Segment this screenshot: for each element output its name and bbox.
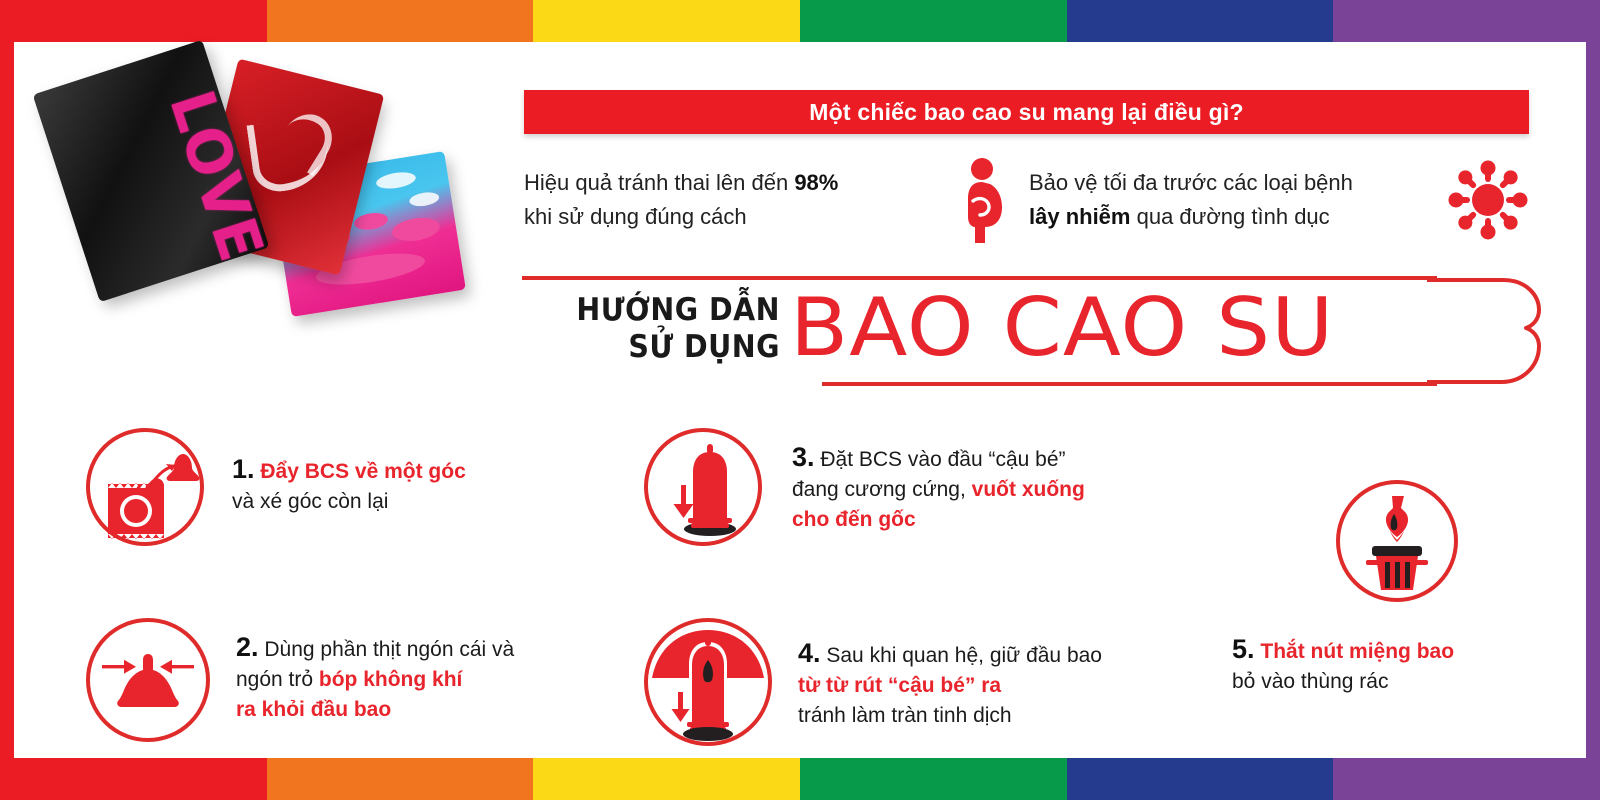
title-subtitle-line2: SỬ DỤNG [550,329,780,366]
headline-banner-text: Một chiếc bao cao su mang lại điều gì? [809,99,1243,126]
rainbow-band-purple [1333,758,1600,800]
step-3-line2-highlight: vuốt xuống [972,478,1085,501]
step-3-line3: cho đến gốc [792,508,916,531]
side-border-left [0,0,14,800]
step-5: 5. Thắt nút miệng bao bỏ vào thùng rác [1232,480,1562,697]
step-4-text: 4. Sau khi quan hệ, giữ đầu bao từ từ rú… [798,618,1102,731]
rainbow-band-blue [1067,0,1334,42]
step-1-text: 1. Đẩy BCS về một góc và xé góc còn lại [232,428,466,517]
step-2: 2. Dùng phần thịt ngón cái và ngón trỏ b… [86,618,616,742]
rainbow-band-green [800,0,1067,42]
rainbow-band-red [0,758,267,800]
step-2-line1: Dùng phần thịt ngón cái và [264,638,514,661]
step-4-number: 4. [798,638,821,668]
benefit-text-sti: Bảo vệ tối đa trước các loại bệnh lây nh… [1029,166,1442,234]
benefit-text-a: Bảo vệ tối đa trước các loại bệnh [1029,170,1353,195]
benefit-text-a: Hiệu quả tránh thai lên đến [524,170,794,195]
step-3-line2-a: đang cương cứng, [792,478,972,501]
step-5-line2: bỏ vào thùng rác [1232,670,1388,693]
step-4-line3: tránh làm tràn tinh dịch [798,704,1012,727]
headline-banner: Một chiếc bao cao su mang lại điều gì? [524,90,1529,134]
condom-packets-photo: LOVE LOVE [54,52,474,342]
benefits-row: Hiệu quả tránh thai lên đến 98% khi sử d… [524,152,1534,247]
rainbow-band-red [0,0,267,42]
poster-content: LOVE LOVE Một chiếc bao cao su mang lại … [14,42,1586,758]
step-4-line1: Sau khi quan hệ, giữ đầu bao [826,644,1102,667]
step-5-line1: Thắt nút miệng bao [1260,640,1454,663]
condom-wrapper-tear-icon [86,428,204,546]
step-2-line2-highlight: bóp không khí [319,668,462,691]
benefit-text-pregnancy: Hiệu quả tránh thai lên đến 98% khi sử d… [524,166,937,234]
main-title-block: HƯỚNG DẪN SỬ DỤNG BAO CAO SU [522,270,1532,400]
rainbow-band-orange [267,758,534,800]
rainbow-band-purple [1333,0,1600,42]
step-5-number: 5. [1232,634,1255,664]
condom-outline-icon [1427,274,1547,388]
step-3: 3. Đặt BCS vào đầu “cậu bé” đang cương c… [644,428,1204,546]
benefit-text-b: khi sử dụng đúng cách [524,204,747,229]
step-3-text: 3. Đặt BCS vào đầu “cậu bé” đang cương c… [792,428,1085,535]
step-2-line2-a: ngón trỏ [236,668,319,691]
rolled-condom-down-arrow-icon [644,428,762,546]
virus-icon [1442,160,1534,240]
title-subtitle-line1: HƯỚNG DẪN [550,292,780,329]
rainbow-stripe-bottom [0,758,1600,800]
infographic-poster: LOVE LOVE Một chiếc bao cao su mang lại … [0,0,1600,800]
step-3-line1: Đặt BCS vào đầu “cậu bé” [820,448,1065,471]
benefit-bold-98: 98% [794,170,838,195]
pregnant-woman-icon [937,157,1029,243]
benefit-item-sti: Bảo vệ tối đa trước các loại bệnh lây nh… [1029,152,1534,247]
step-2-number: 2. [236,632,259,662]
benefit-bold-lay-nhiem: lây nhiễm [1029,204,1130,229]
step-4: 4. Sau khi quan hệ, giữ đầu bao từ từ rú… [644,618,1224,746]
withdraw-condom-icon [644,618,772,746]
title-main: BAO CAO SU [790,276,1334,380]
knot-condom-trash-icon [1336,480,1458,602]
step-1-number: 1. [232,454,255,484]
rainbow-band-yellow [533,0,800,42]
step-2-line3: ra khỏi đầu bao [236,698,391,721]
packet-black-label: LOVE [48,84,255,253]
step-2-text: 2. Dùng phần thịt ngón cái và ngón trỏ b… [236,618,514,725]
rainbow-stripe-top [0,0,1600,42]
step-5-text: 5. Thắt nút miệng bao bỏ vào thùng rác [1232,632,1562,697]
step-1-line1: Đẩy BCS về một góc [260,460,465,483]
rainbow-band-blue [1067,758,1334,800]
rainbow-band-orange [267,0,534,42]
step-1-line2: và xé góc còn lại [232,490,388,513]
title-rule-bottom [822,382,1437,386]
title-subtitle: HƯỚNG DẪN SỬ DỤNG [550,292,780,366]
side-border-right [1586,0,1600,800]
rainbow-band-green [800,758,1067,800]
step-1: 1. Đẩy BCS về một góc và xé góc còn lại [86,428,566,546]
step-3-number: 3. [792,442,815,472]
rainbow-band-yellow [533,758,800,800]
benefit-item-pregnancy: Hiệu quả tránh thai lên đến 98% khi sử d… [524,152,1029,247]
squeeze-air-arrows-icon [86,618,210,742]
step-4-line2: từ từ rút “cậu bé” ra [798,674,1001,697]
benefit-text-b: qua đường tình dục [1130,204,1329,229]
